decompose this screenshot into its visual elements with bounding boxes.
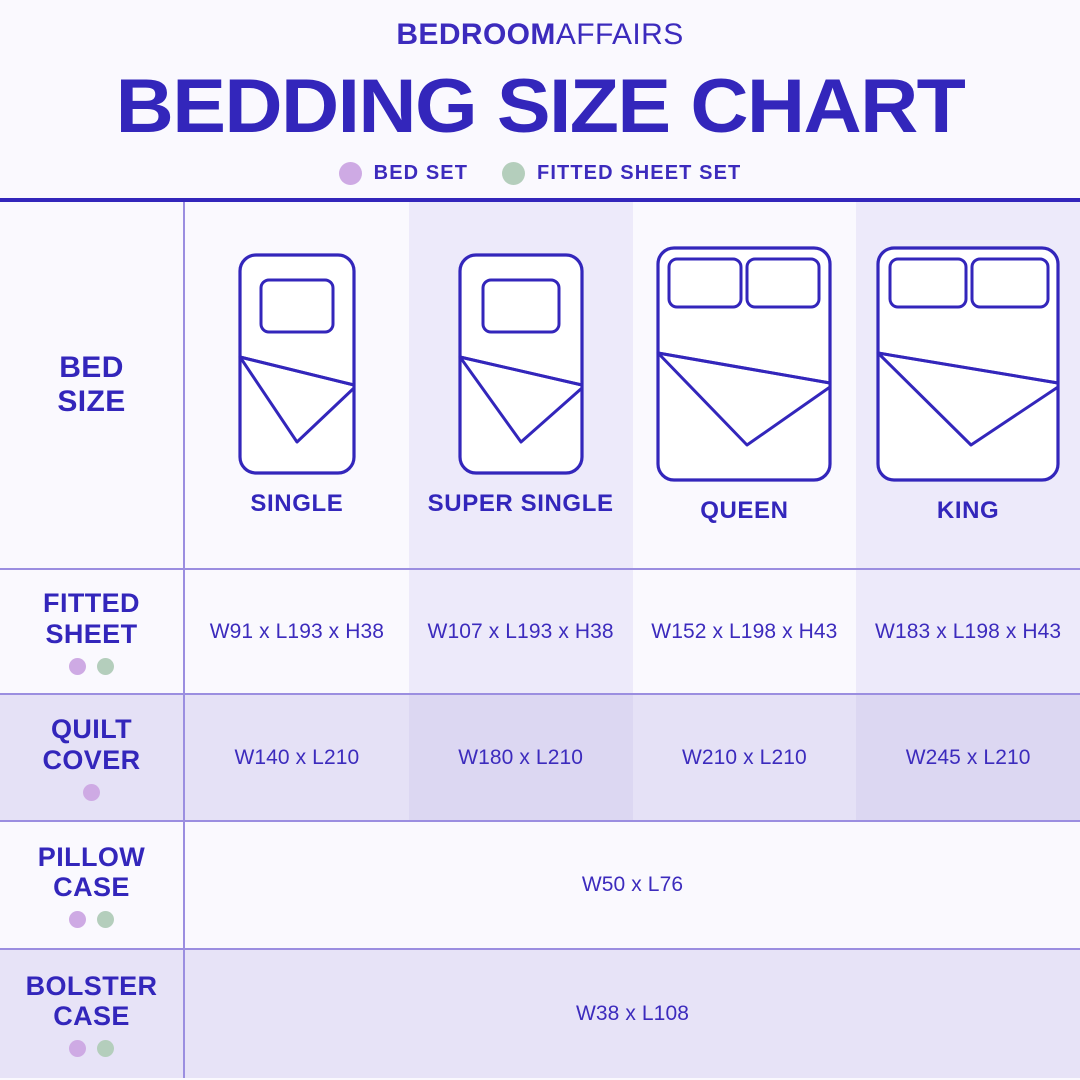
bed-cell-single[interactable]: SINGLE	[185, 202, 409, 568]
fitted-sheet-cells: W91 x L193 x H38 W107 x L193 x H38 W152 …	[185, 570, 1080, 693]
bedding-size-chart-page: BEDROOMAFFAIRS BEDDING SIZE CHART BED SE…	[0, 0, 1080, 1080]
row-label-text: QUILT COVER	[42, 714, 140, 774]
bed-set-dot-icon	[83, 784, 100, 801]
row-label-text: BOLSTER CASE	[26, 971, 158, 1031]
cell-quilt-cover-queen[interactable]: W210 x L210	[633, 695, 857, 820]
bed-set-dot-icon	[339, 162, 362, 185]
row-dots-pillow-case	[69, 911, 114, 928]
row-label-text: FITTED SHEET	[43, 588, 140, 648]
legend-label-bed-set: BED SET	[374, 162, 468, 185]
bed-illustration-king	[875, 245, 1061, 483]
measure-value: W50 x L76	[582, 873, 683, 897]
table-row-bed-size: BED SIZE SINGLE	[0, 202, 1080, 568]
brand-bold-text: BEDROOM	[396, 18, 555, 51]
bed-label-king: KING	[937, 497, 999, 525]
legend-item-fitted-sheet-set: FITTED SHEET SET	[502, 162, 741, 185]
measure-value: W91 x L193 x H38	[210, 620, 384, 644]
page-title: BEDDING SIZE CHART	[0, 68, 1080, 146]
bed-label-super-single: SUPER SINGLE	[428, 490, 614, 518]
size-chart-table: BED SIZE SINGLE	[0, 198, 1080, 1080]
fitted-sheet-set-dot-icon	[97, 1040, 114, 1057]
cell-quilt-cover-super-single[interactable]: W180 x L210	[409, 695, 633, 820]
cell-fitted-sheet-king[interactable]: W183 x L198 x H43	[856, 570, 1080, 693]
bed-illustration-super-single	[457, 252, 585, 476]
measure-value: W183 x L198 x H43	[875, 620, 1061, 644]
row-label-bolster-case: BOLSTER CASE	[0, 950, 185, 1078]
measure-value: W107 x L193 x H38	[428, 620, 614, 644]
cell-bolster-case-all-sizes[interactable]: W38 x L108	[185, 950, 1080, 1078]
fitted-sheet-set-dot-icon	[502, 162, 525, 185]
cell-quilt-cover-single[interactable]: W140 x L210	[185, 695, 409, 820]
measure-value: W210 x L210	[682, 746, 807, 770]
brand-light-text: AFFAIRS	[556, 18, 684, 51]
measure-value: W38 x L108	[576, 1002, 689, 1026]
row-label-bed-size: BED SIZE	[0, 202, 185, 568]
table-row-quilt-cover: QUILT COVER W140 x L210 W180 x L210 W210…	[0, 693, 1080, 820]
row-label-text: BED SIZE	[57, 351, 125, 418]
brand-wordmark: BEDROOMAFFAIRS	[0, 20, 1080, 50]
measure-value: W140 x L210	[234, 746, 359, 770]
measure-value: W245 x L210	[906, 746, 1031, 770]
bed-cell-super-single[interactable]: SUPER SINGLE	[409, 202, 633, 568]
bed-label-single: SINGLE	[250, 490, 343, 518]
cell-fitted-sheet-queen[interactable]: W152 x L198 x H43	[633, 570, 857, 693]
row-label-fitted-sheet: FITTED SHEET	[0, 570, 185, 693]
bed-illustration-queen	[655, 245, 833, 483]
cell-pillow-case-all-sizes[interactable]: W50 x L76	[185, 822, 1080, 948]
row-label-quilt-cover: QUILT COVER	[0, 695, 185, 820]
measure-value: W180 x L210	[458, 746, 583, 770]
bed-size-cells: SINGLE SUPER SINGLE	[185, 202, 1080, 568]
pillow-case-cells: W50 x L76	[185, 822, 1080, 948]
row-dots-bolster-case	[69, 1040, 114, 1057]
legend-label-fitted-sheet-set: FITTED SHEET SET	[537, 162, 741, 185]
legend-item-bed-set: BED SET	[339, 162, 468, 185]
measure-value: W152 x L198 x H43	[651, 620, 837, 644]
table-row-fitted-sheet: FITTED SHEET W91 x L193 x H38 W107 x L19…	[0, 568, 1080, 693]
bed-set-dot-icon	[69, 911, 86, 928]
fitted-sheet-set-dot-icon	[97, 658, 114, 675]
row-dots-fitted-sheet	[69, 658, 114, 675]
bed-label-queen: QUEEN	[700, 497, 788, 525]
cell-quilt-cover-king[interactable]: W245 x L210	[856, 695, 1080, 820]
quilt-cover-cells: W140 x L210 W180 x L210 W210 x L210 W245…	[185, 695, 1080, 820]
row-label-pillow-case: PILLOW CASE	[0, 822, 185, 948]
table-row-pillow-case: PILLOW CASE W50 x L76	[0, 820, 1080, 948]
cell-fitted-sheet-super-single[interactable]: W107 x L193 x H38	[409, 570, 633, 693]
bed-illustration-single	[237, 252, 357, 476]
fitted-sheet-set-dot-icon	[97, 911, 114, 928]
bed-cell-queen[interactable]: QUEEN	[633, 202, 857, 568]
bed-set-dot-icon	[69, 1040, 86, 1057]
row-label-text: PILLOW CASE	[38, 842, 145, 902]
table-row-bolster-case: BOLSTER CASE W38 x L108	[0, 948, 1080, 1078]
legend: BED SET FITTED SHEET SET	[0, 162, 1080, 185]
page-header: BEDROOMAFFAIRS BEDDING SIZE CHART BED SE…	[0, 0, 1080, 198]
cell-fitted-sheet-single[interactable]: W91 x L193 x H38	[185, 570, 409, 693]
bolster-case-cells: W38 x L108	[185, 950, 1080, 1078]
bed-cell-king[interactable]: KING	[856, 202, 1080, 568]
bed-set-dot-icon	[69, 658, 86, 675]
row-dots-quilt-cover	[83, 784, 100, 801]
